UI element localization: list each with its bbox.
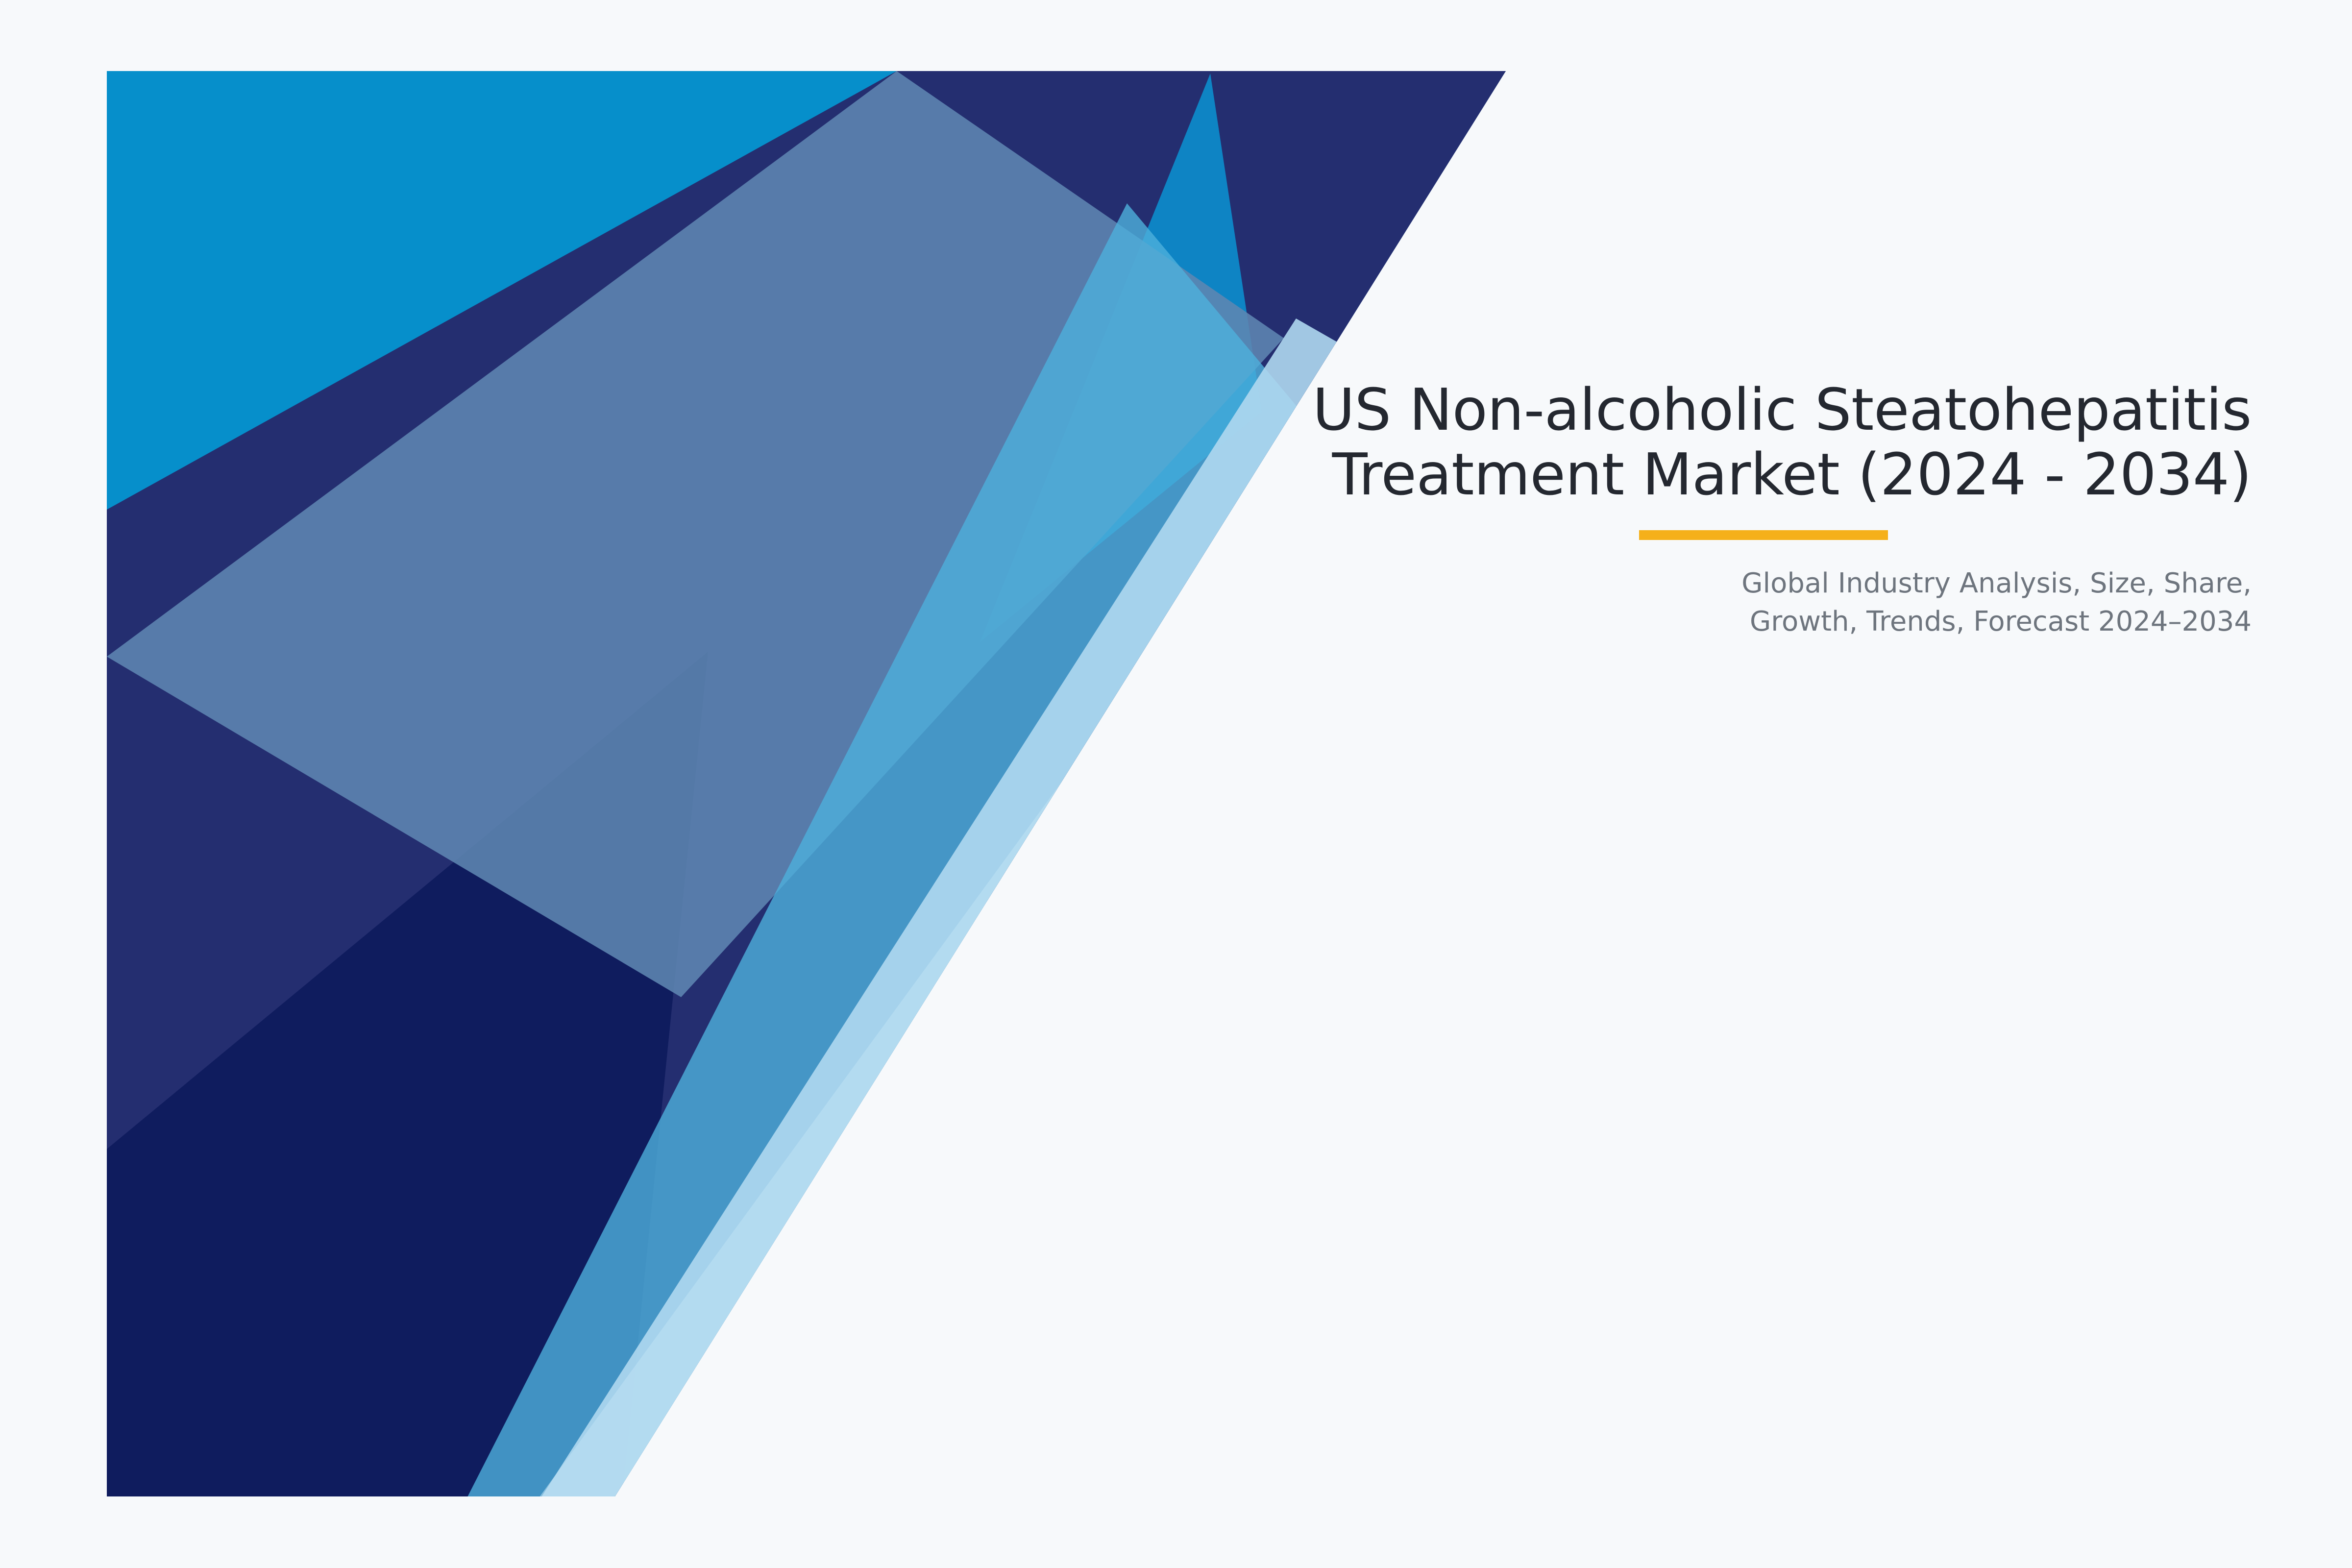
title-underline-accent [1639,530,1888,540]
shape-navy-upper-wedge [107,71,1568,1568]
page-subtitle: Global Industry Analysis, Size, Share, G… [968,507,2252,640]
report-cover-page: US Non-alcoholic Steatohepatitis Treatme… [0,0,2352,1568]
cover-text-block: US Non-alcoholic Steatohepatitis Treatme… [968,377,2252,640]
shape-cyan-backdrop-panel [107,71,1506,1496]
abstract-geometric-collage [0,0,2352,1568]
shape-deep-navy-lower-wedge [107,652,708,1568]
page-title: US Non-alcoholic Steatohepatitis Treatme… [968,377,2252,507]
title-wrapper: US Non-alcoholic Steatohepatitis Treatme… [968,377,2252,507]
